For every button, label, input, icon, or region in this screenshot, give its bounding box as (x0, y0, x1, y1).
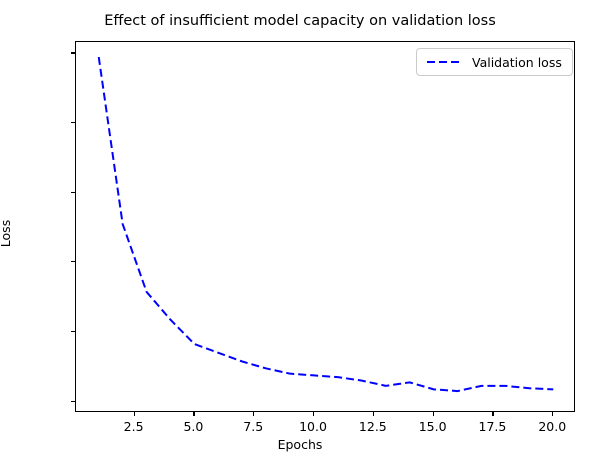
y-axis-label: Loss (0, 220, 13, 247)
x-axis-label: Epochs (0, 437, 600, 452)
legend: Validation loss (416, 48, 573, 76)
x-tick-label: 12.5 (343, 419, 403, 434)
x-tick-label: 20.0 (522, 419, 582, 434)
plot-area (75, 41, 575, 412)
x-tick-label: 7.5 (223, 419, 283, 434)
x-tick-label: 2.5 (104, 419, 164, 434)
page-title: Effect of insufficient model capacity on… (0, 13, 600, 29)
legend-dashed-line-swatch (426, 55, 462, 69)
x-tick-label: 15.0 (403, 419, 463, 434)
x-tick-label: 17.5 (462, 419, 522, 434)
x-tick-label: 5.0 (163, 419, 223, 434)
x-tick-label: 10.0 (283, 419, 343, 434)
matplotlib-figure: Effect of insufficient model capacity on… (0, 0, 600, 457)
series-line-validation-loss (99, 57, 554, 391)
legend-label: Validation loss (472, 55, 562, 70)
validation-loss-line-chart (76, 42, 576, 413)
